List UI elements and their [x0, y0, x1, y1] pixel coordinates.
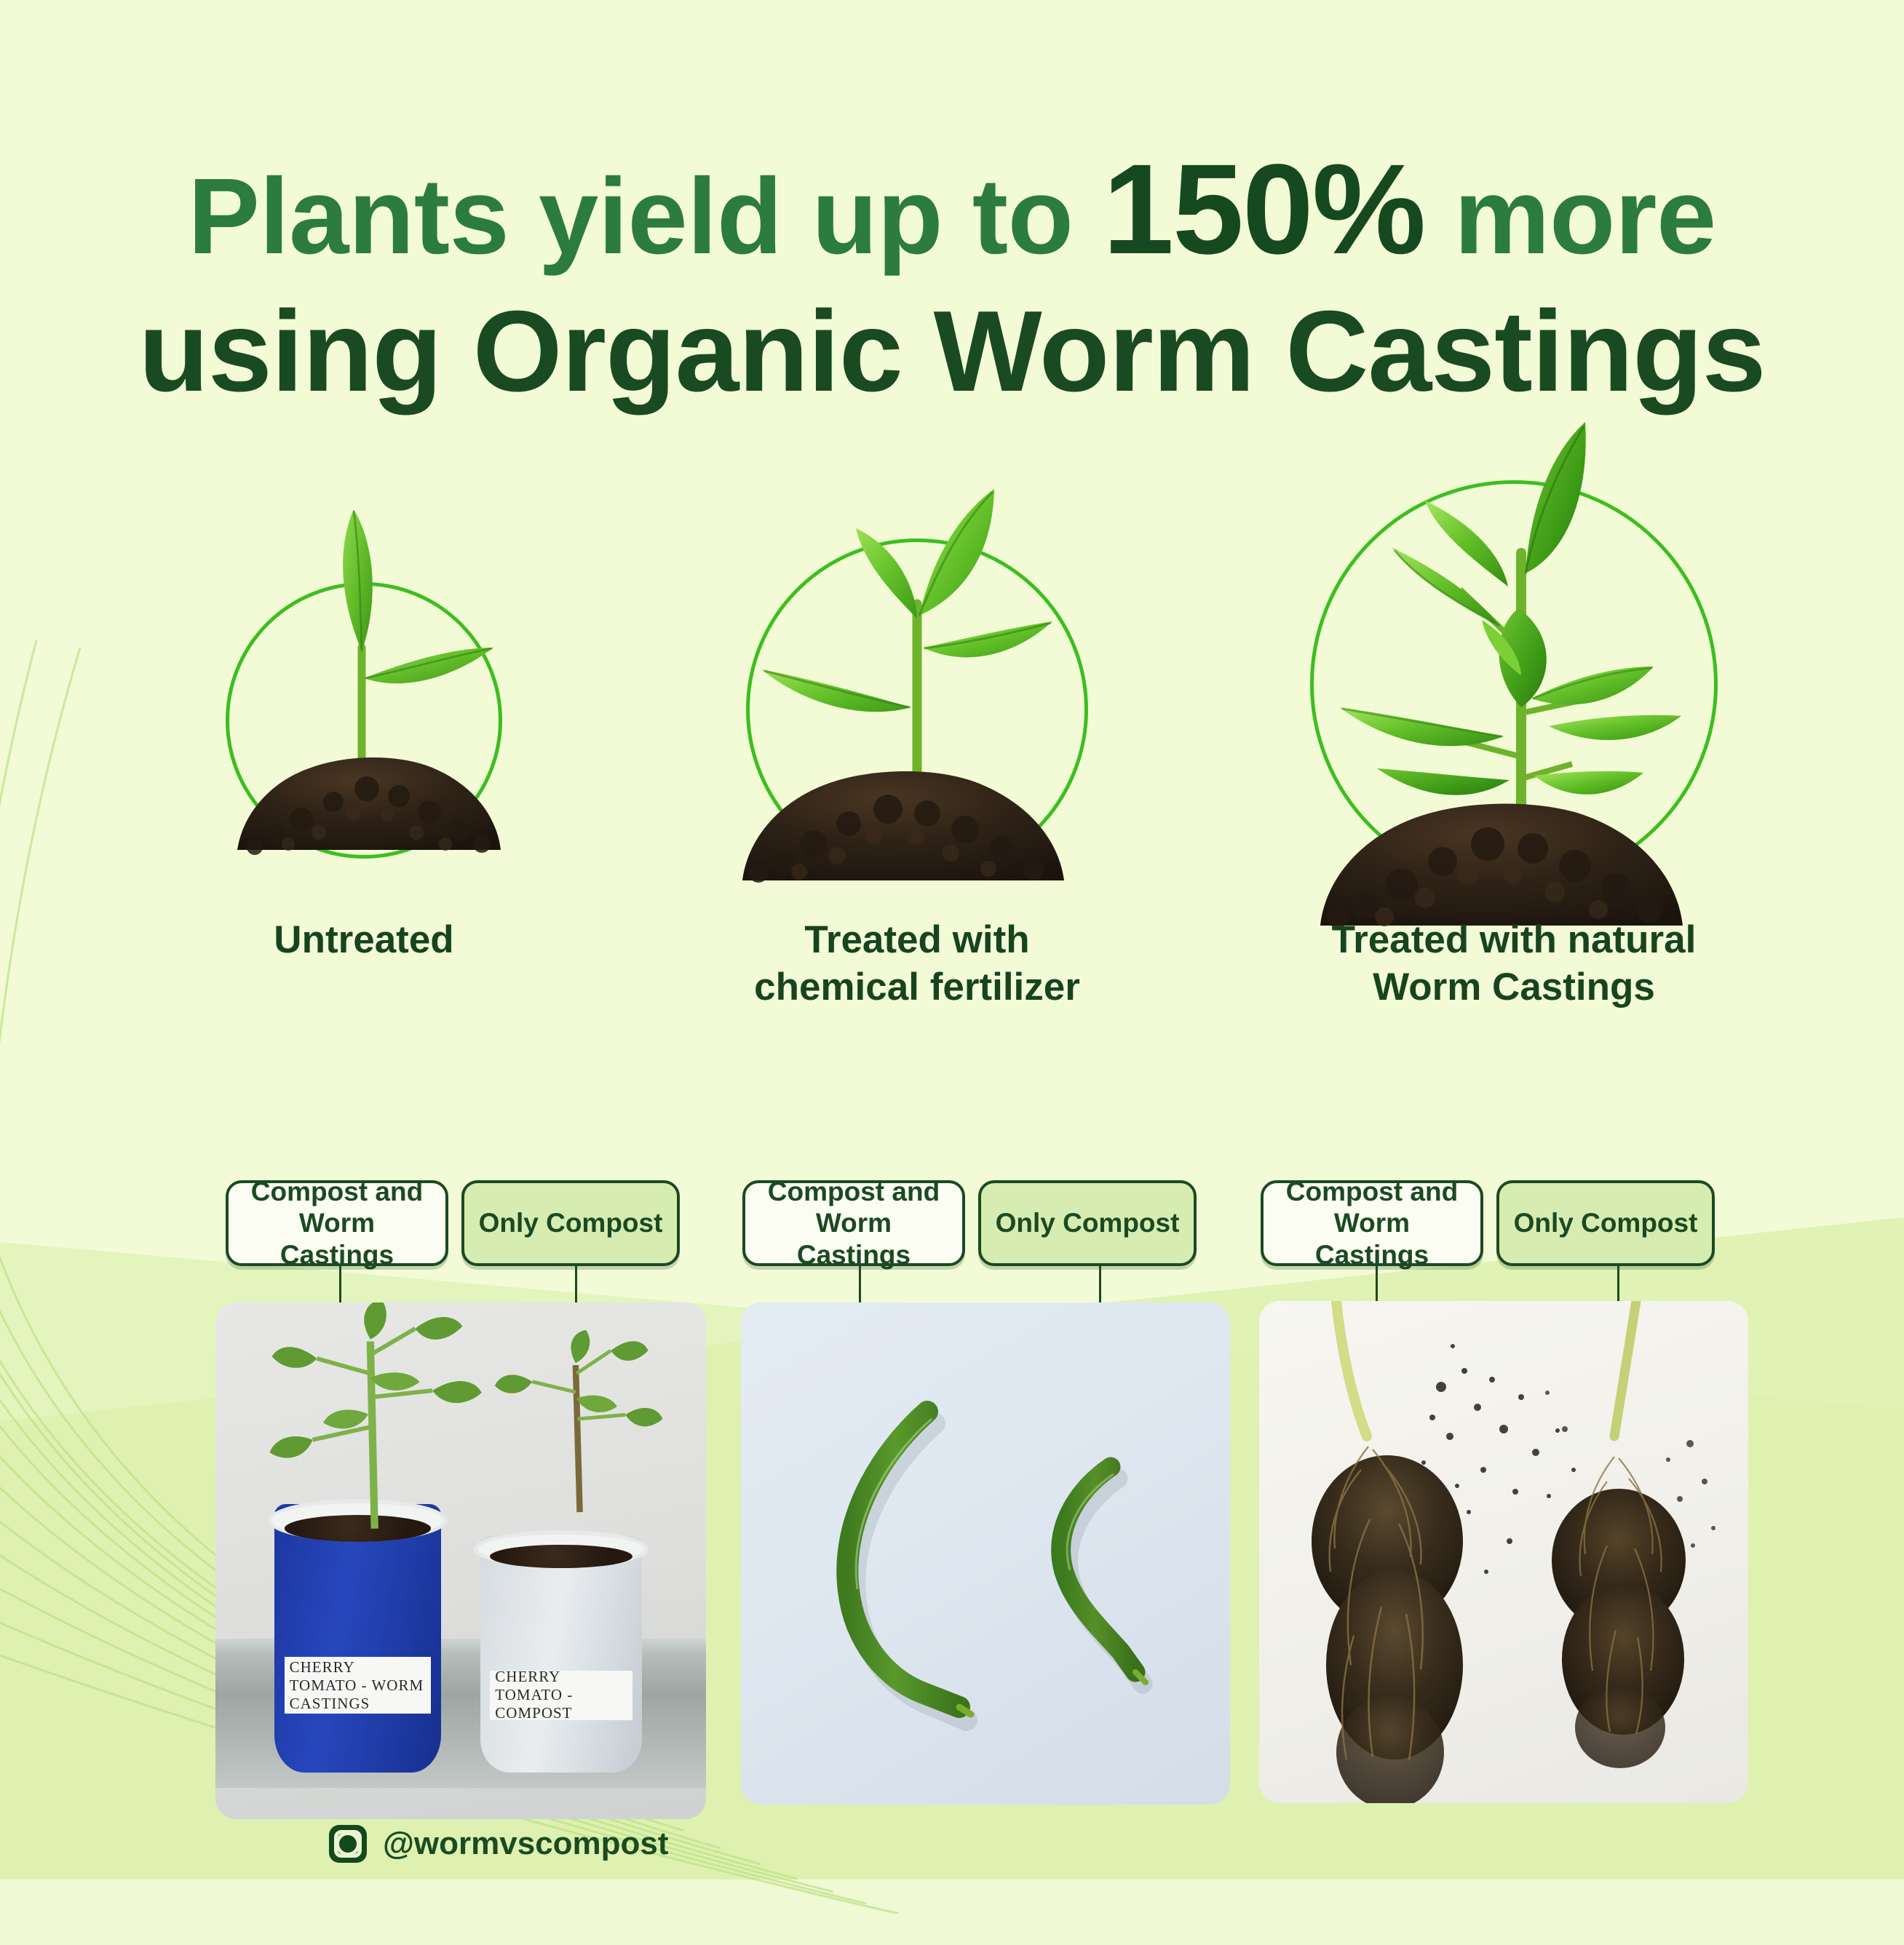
- tag-text: Only Compost: [996, 1207, 1180, 1239]
- cup-only-compost: CHERRY TOMATO - COMPOST: [480, 1535, 642, 1773]
- seedling-illustration-small: [211, 407, 517, 888]
- plant-column-untreated: Untreated: [124, 407, 604, 1135]
- tag-text: Compost and Worm Castings: [755, 1176, 952, 1271]
- tag-only-compost-1[interactable]: Only Compost: [461, 1180, 680, 1266]
- tag-line1: Compost and: [251, 1177, 423, 1206]
- photo-card-root-mass: [1259, 1301, 1748, 1803]
- plant-column-worm-castings: Treated with natural Worm Castings: [1237, 407, 1790, 1135]
- tag-only-compost-2[interactable]: Only Compost: [978, 1180, 1197, 1266]
- plant-caption-line2: Worm Castings: [1373, 966, 1655, 1009]
- tag-line2: Worm Castings: [797, 1208, 911, 1270]
- headline-line-1: Plants yield up to 150% more: [188, 156, 1716, 277]
- tomato-plant-large: [255, 1302, 491, 1540]
- tag-text: Only Compost: [1514, 1207, 1698, 1239]
- cup-label-only-compost: CHERRY TOMATO - COMPOST: [490, 1671, 632, 1721]
- background-bottom-strip: [0, 1880, 1904, 1945]
- cup-label-worm-castings: CHERRY TOMATO - WORM CASTINGS: [285, 1657, 432, 1714]
- instagram-icon[interactable]: [329, 1825, 367, 1863]
- cup-label-line2: TOMATO - COMPOST: [495, 1686, 632, 1722]
- headline-part2: more: [1424, 156, 1716, 277]
- headline-percent-highlight: 150%: [1103, 138, 1424, 281]
- bean-pods-illustration: [741, 1302, 1230, 1805]
- tag-compost-and-worm-castings-2[interactable]: Compost and Worm Castings: [742, 1180, 965, 1266]
- tag-line1: Compost and: [1286, 1177, 1458, 1206]
- tomato-plant-small: [480, 1323, 667, 1519]
- root-mass-illustration: [1259, 1301, 1748, 1803]
- plant-caption-chemical-fertilizer: Treated with chemical fertilizer: [670, 917, 1165, 1011]
- tag-compost-and-worm-castings-3[interactable]: Compost and Worm Castings: [1261, 1180, 1483, 1266]
- plant-growth-comparison-row: Untreated: [0, 407, 1904, 1135]
- tag-text: Only Compost: [479, 1207, 663, 1239]
- photo-card-bean-pods: [741, 1302, 1230, 1805]
- tag-line1: Compost and: [768, 1177, 940, 1206]
- plant-stage-large: [1281, 407, 1747, 960]
- tag-line2: Worm Castings: [1315, 1208, 1429, 1270]
- plant-stage-medium: [713, 407, 1121, 917]
- plant-stage-small: [211, 407, 517, 888]
- headline-part1: Plants yield up to: [188, 156, 1103, 277]
- seedling-illustration-large: [1281, 407, 1747, 960]
- plant-caption-line1: Untreated: [274, 918, 453, 961]
- tag-text: Compost and Worm Castings: [239, 1176, 435, 1271]
- page-title: Plants yield up to 150% more using Organ…: [0, 146, 1904, 409]
- plant-caption-line1: Treated with natural: [1332, 918, 1697, 961]
- footer-social[interactable]: @wormvscompost: [329, 1825, 669, 1863]
- cup-body: [480, 1535, 642, 1773]
- plant-caption-line1: Treated with: [804, 918, 1029, 961]
- tag-compost-and-worm-castings-1[interactable]: Compost and Worm Castings: [226, 1180, 448, 1266]
- headline-line-2: using Organic Worm Castings: [0, 294, 1904, 409]
- cup-label-line2: TOMATO - WORM CASTINGS: [290, 1676, 432, 1713]
- tag-line2: Worm Castings: [280, 1208, 394, 1270]
- plant-column-chemical-fertilizer: Treated with chemical fertilizer: [670, 407, 1165, 1135]
- plant-caption-line2: chemical fertilizer: [754, 966, 1080, 1009]
- tag-only-compost-3[interactable]: Only Compost: [1496, 1180, 1715, 1266]
- cup-label-line1: CHERRY: [495, 1668, 632, 1686]
- plant-caption-untreated: Untreated: [124, 917, 604, 964]
- seedling-illustration-medium: [713, 407, 1121, 917]
- instagram-handle[interactable]: @wormvscompost: [383, 1826, 669, 1862]
- cup-soil: [490, 1545, 632, 1569]
- cup-worm-castings: CHERRY TOMATO - WORM CASTINGS: [274, 1504, 441, 1773]
- cup-label-line1: CHERRY: [290, 1658, 432, 1676]
- plant-caption-worm-castings: Treated with natural Worm Castings: [1237, 917, 1790, 1011]
- cup-body: [274, 1504, 441, 1773]
- photo-card-tomato-seedlings: CHERRY TOMATO - WORM CASTINGS: [215, 1302, 706, 1819]
- tag-text: Compost and Worm Castings: [1274, 1176, 1470, 1271]
